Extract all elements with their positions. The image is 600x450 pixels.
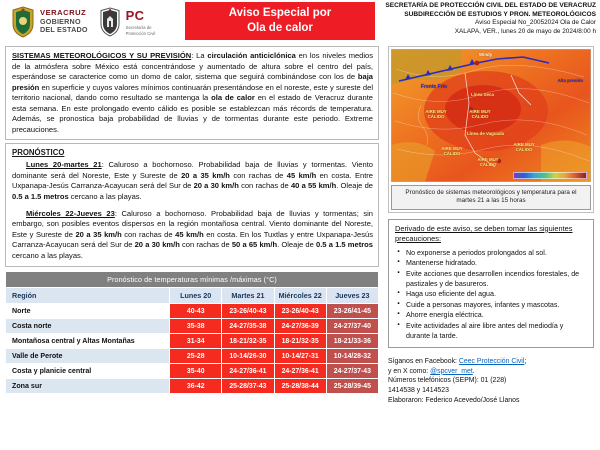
day1-t6: cercano a las playas. — [69, 192, 142, 201]
table-cell-temp: 35-38 — [170, 319, 222, 334]
proteccion-civil-logo: PC Secretaría de Protección Civil — [98, 7, 156, 37]
table-cell-temp: 24-27/36-41 — [222, 364, 274, 379]
precaution-item: Evite actividades al aire libre antes de… — [395, 322, 587, 341]
precaution-item: Ahorre energía eléctrica. — [395, 311, 587, 321]
day2-b1: 20 a 35 km/h — [75, 230, 121, 239]
phones-label: Números telefónicos (SEPM): 01 (228) — [388, 376, 594, 386]
day2-b3: 20 a 30 km/h — [135, 240, 180, 249]
table-row: Valle de Perote25-2810-14/26-3010-14/27-… — [6, 349, 379, 364]
table-caption-row: Pronóstico de temperaturas mínimas /máxi… — [6, 272, 379, 288]
temperature-forecast-table: Pronóstico de temperaturas mínimas /máxi… — [5, 271, 379, 394]
map-label-aire-calido-5: AIRE MUY CÁLIDO — [507, 142, 541, 152]
pc-sub-line-1: Secretaría de — [126, 25, 156, 30]
day2-label: Miércoles 22-Jueves 23 — [26, 209, 115, 218]
table-col-4: Jueves 23 — [326, 288, 378, 304]
table-cell-temp: 36-42 — [170, 379, 222, 394]
table-cell-temp: 24-27/37-43 — [326, 364, 378, 379]
notice-title-banner: Aviso Especial por Ola de calor — [185, 2, 375, 40]
table-cell-temp: 35-40 — [170, 364, 222, 379]
document-body: SISTEMAS METEOROLÓGICOS Y SU PREVISIÓN: … — [0, 44, 600, 450]
proteccion-civil-seal-icon — [98, 7, 122, 37]
facebook-suffix: ; — [524, 358, 526, 365]
table-header-row: RegiónLunes 20Martes 21Miércoles 22Jueve… — [6, 288, 379, 304]
table-cell-region: Montañosa central y Altas Montañas — [6, 334, 170, 349]
forecast-day2: Miércoles 22-Jueves 23: Caluroso a bocho… — [12, 209, 373, 262]
map-label-frente-frio: Frente Frío — [421, 85, 447, 90]
document-header: VERACRUZ GOBIERNO DEL ESTADO PC Secretar… — [0, 0, 600, 44]
map-label-alta-presion: Alta presión — [558, 78, 583, 83]
systems-bold-1: circulación anticiclónica — [207, 51, 295, 60]
precaution-item: Haga uso eficiente del agua. — [395, 290, 587, 300]
systems-title: SISTEMAS METEOROLÓGICOS Y SU PREVISIÓN — [12, 51, 191, 60]
day1-b1: 20 a 35 km/h — [181, 171, 230, 180]
veracruz-logo: VERACRUZ GOBIERNO DEL ESTADO — [10, 6, 88, 38]
temperature-table-wrap: Pronóstico de temperaturas mínimas /máxi… — [5, 271, 379, 394]
table-cell-temp: 24-27/36-39 — [274, 319, 326, 334]
banner-line-2: Ola de calor — [247, 21, 313, 36]
day2-b5: 0.5 a 1.5 metros — [316, 240, 373, 249]
table-cell-temp: 10-14/28-32 — [326, 349, 378, 364]
map-label-aire-calido-4: AIRE MUY CÁLIDO — [471, 157, 505, 167]
pc-acronym: PC — [126, 8, 145, 23]
table-row: Costa y planicie central35-4024-27/36-41… — [6, 364, 379, 379]
pc-label: PC Secretaría de Protección Civil — [126, 8, 156, 36]
place-and-date: XALAPA, VER., lunes 20 de mayo de 2024/8… — [381, 28, 596, 36]
map-temperature-legend — [513, 172, 587, 179]
table-cell-region: Costa norte — [6, 319, 170, 334]
logo-line-3: DEL ESTADO — [40, 26, 88, 35]
banner-line-1: Aviso Especial por — [229, 6, 331, 21]
x-suffix: . — [473, 368, 475, 375]
table-body: Norte40-4323-26/40-4323-26/40-4323-26/41… — [6, 304, 379, 394]
table-cell-temp: 24-27/36-41 — [274, 364, 326, 379]
systems-bold-3: ola de calor — [211, 93, 255, 102]
day2-t4: con rachas de — [180, 240, 232, 249]
day1-t4: con rachas de — [239, 181, 291, 190]
table-cell-region: Zona sur — [6, 379, 170, 394]
table-row: Zona sur36-4225-28/37-4325-28/38-4425-28… — [6, 379, 379, 394]
table-cell-region: Costa y planicie central — [6, 364, 170, 379]
day1-t2: con rachas de — [230, 171, 287, 180]
day1-label: Lunes 20-martes 21 — [26, 160, 102, 169]
x-line: y en X como: @spcver_met. — [388, 367, 594, 377]
facebook-line: Síganos en Facebook: Ceec Protección Civ… — [388, 357, 594, 367]
precautions-list: No exponerse a periodos prolongados al s… — [395, 249, 587, 341]
notice-id: Aviso Especial No_20052024 Ola de Calor — [381, 19, 596, 27]
table-cell-temp: 25-28/39-45 — [326, 379, 378, 394]
table-cell-temp: 23-26/40-43 — [222, 304, 274, 319]
table-col-3: Miércoles 22 — [274, 288, 326, 304]
logos-area: VERACRUZ GOBIERNO DEL ESTADO PC Secretar… — [0, 0, 185, 38]
weather-map-frame: Windy Frente Frío Alta presión Línea Sec… — [388, 46, 594, 213]
table-cell-temp: 18-21/32-35 — [274, 334, 326, 349]
phones-numbers: 1414538 y 1414523 — [388, 386, 594, 396]
agency-line-2: SUBDIRECCIÓN DE ESTUDIOS Y PRON. METEORO… — [381, 11, 596, 20]
table-row: Costa norte35-3824-27/35-3824-27/36-3924… — [6, 319, 379, 334]
precautions-box: Derivado de este aviso, se deben tomar l… — [388, 219, 594, 348]
table-cell-region: Norte — [6, 304, 170, 319]
forecast-panel: PRONÓSTICO Lunes 20-martes 21: Caluroso … — [5, 143, 379, 267]
precautions-title: Derivado de este aviso, se deben tomar l… — [395, 224, 587, 244]
table-cell-temp: 18-21/33-36 — [326, 334, 378, 349]
table-col-1: Lunes 20 — [170, 288, 222, 304]
precaution-item: Evite acciones que desarrollen incendios… — [395, 270, 587, 289]
table-cell-temp: 25-28/38-44 — [274, 379, 326, 394]
table-row: Montañosa central y Altas Montañas31-341… — [6, 334, 379, 349]
x-prefix: y en X como: — [388, 368, 430, 375]
weather-map: Windy Frente Frío Alta presión Línea Sec… — [391, 49, 591, 182]
facebook-link[interactable]: Ceec Protección Civil — [459, 358, 525, 365]
day1-b2: 45 km/h — [287, 171, 316, 180]
x-handle-link[interactable]: @spcver_met — [430, 368, 473, 375]
map-watermark-windy: Windy — [479, 52, 492, 57]
forecast-title: PRONÓSTICO — [12, 148, 373, 157]
forecast-day1: Lunes 20-martes 21: Caluroso a bochornos… — [12, 160, 373, 202]
table-cell-temp: 18-21/32-35 — [222, 334, 274, 349]
table-cell-temp: 24-27/37-40 — [326, 319, 378, 334]
day1-b4: 40 a 55 km/h — [291, 181, 336, 190]
agency-header-text: SECRETARÍA DE PROTECCIÓN CIVIL DEL ESTAD… — [375, 0, 600, 36]
precaution-item: No exponerse a periodos prolongados al s… — [395, 249, 587, 259]
precaution-item: Cuide a personas mayores, infantes y mas… — [395, 301, 587, 311]
day1-b5: 0.5 a 1.5 metros — [12, 192, 69, 201]
map-label-aire-calido-2: AIRE MUY CÁLIDO — [463, 109, 497, 119]
veracruz-crest-icon — [10, 6, 36, 38]
systems-text-1: : La — [191, 51, 207, 60]
aviso-especial-document: VERACRUZ GOBIERNO DEL ESTADO PC Secretar… — [0, 0, 600, 450]
table-row: Norte40-4323-26/40-4323-26/40-4323-26/41… — [6, 304, 379, 319]
table-col-region: Región — [6, 288, 170, 304]
map-label-aire-calido-1: AIRE MUY CÁLIDO — [419, 109, 453, 119]
contact-block: Síganos en Facebook: Ceec Protección Civ… — [388, 357, 594, 405]
table-caption: Pronóstico de temperaturas mínimas /máxi… — [6, 272, 379, 288]
table-col-2: Martes 21 — [222, 288, 274, 304]
left-column: SISTEMAS METEOROLÓGICOS Y SU PREVISIÓN: … — [0, 44, 385, 450]
day1-t5: . Oleaje de — [336, 181, 373, 190]
meteorological-systems-panel: SISTEMAS METEOROLÓGICOS Y SU PREVISIÓN: … — [5, 46, 379, 140]
table-cell-temp: 40-43 — [170, 304, 222, 319]
precaution-item: Mantenerse hidratado. — [395, 259, 587, 269]
map-caption: Pronóstico de sistemas meteorológicos y … — [391, 185, 591, 210]
table-cell-temp: 23-26/41-45 — [326, 304, 378, 319]
authors-line: Elaboraron: Federico Acevedo/José Llanos — [388, 396, 594, 406]
table-cell-temp: 25-28/37-43 — [222, 379, 274, 394]
map-label-linea-seca: Línea Seca — [471, 92, 494, 97]
map-label-aire-calido-3: AIRE MUY CÁLIDO — [435, 146, 469, 156]
table-cell-temp: 10-14/27-31 — [274, 349, 326, 364]
table-cell-region: Valle de Perote — [6, 349, 170, 364]
day2-t5: . Oleaje de — [277, 240, 316, 249]
right-column: Windy Frente Frío Alta presión Línea Sec… — [385, 44, 600, 450]
table-cell-temp: 24-27/35-38 — [222, 319, 274, 334]
agency-line-1: SECRETARÍA DE PROTECCIÓN CIVIL DEL ESTAD… — [381, 2, 596, 11]
day2-b4: 50 a 65 km/h — [232, 240, 277, 249]
table-cell-temp: 10-14/26-30 — [222, 349, 274, 364]
day1-b3: 20 a 30 km/h — [194, 181, 239, 190]
pc-sub-line-2: Protección Civil — [126, 31, 156, 36]
map-label-linea-vaguada: Línea de Vaguada — [467, 131, 504, 136]
facebook-prefix: Síganos en Facebook: — [388, 358, 459, 365]
table-cell-temp: 31-34 — [170, 334, 222, 349]
table-cell-temp: 25-28 — [170, 349, 222, 364]
day2-b2: 45 km/h — [175, 230, 204, 239]
table-cell-temp: 23-26/40-43 — [274, 304, 326, 319]
day2-t6: cercano a las playas. — [12, 251, 83, 260]
day2-t2: con rachas de — [122, 230, 175, 239]
veracruz-logo-text: VERACRUZ GOBIERNO DEL ESTADO — [40, 9, 88, 35]
